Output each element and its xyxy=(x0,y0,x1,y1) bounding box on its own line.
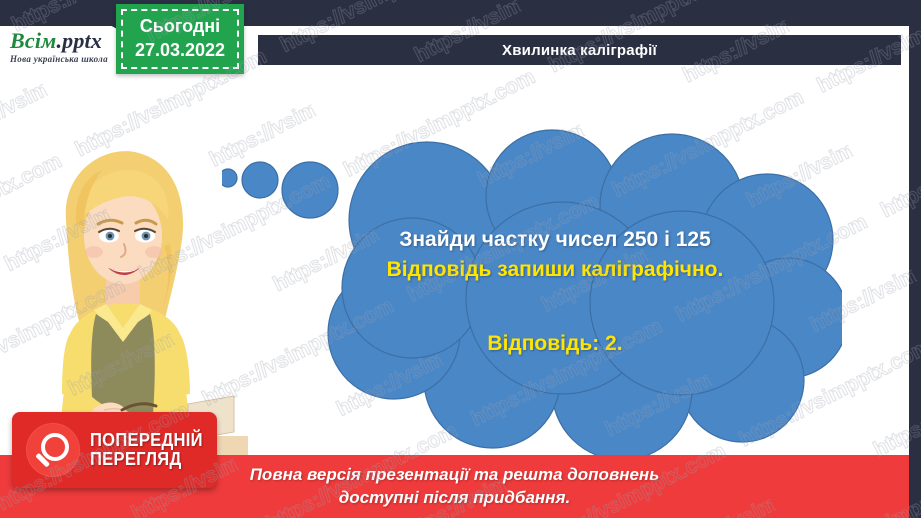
today-label: Сьогодні xyxy=(140,15,220,39)
teacher-illustration xyxy=(18,128,248,458)
purchase-notice-line-1: Повна версія презентації та решта доповн… xyxy=(250,464,660,487)
task-line-1: Знайди частку чисел 250 і 125 xyxy=(300,225,810,255)
text-spacer xyxy=(300,285,810,329)
preview-badge: ПОПЕРЕДНІЙ ПЕРЕГЛЯД xyxy=(12,412,217,488)
slide-title-text: Хвилинка каліграфії xyxy=(502,42,657,59)
preview-badge-line-2: ПЕРЕГЛЯД xyxy=(90,450,203,469)
today-date: 27.03.2022 xyxy=(135,39,225,63)
slide-canvas: Всім.pptx Нова українська школа Сьогодні… xyxy=(0,0,921,518)
purchase-notice-line-2: доступні після придбання. xyxy=(339,487,570,510)
right-navy-rail xyxy=(909,0,921,518)
site-logo: Всім.pptx Нова українська школа xyxy=(10,30,108,64)
bubble-text-block: Знайди частку чисел 250 і 125 Відповідь … xyxy=(300,225,810,358)
preview-badge-line-1: ПОПЕРЕДНІЙ xyxy=(90,431,203,450)
today-date-badge: Сьогодні 27.03.2022 xyxy=(116,4,244,74)
magnifier-lens xyxy=(41,433,69,461)
logo-name-ext: .pptx xyxy=(56,28,102,53)
magnifier-icon xyxy=(26,423,80,477)
logo-tagline: Нова українська школа xyxy=(10,54,108,64)
logo-name-main: Всім xyxy=(10,28,56,53)
slide-title-bar: Хвилинка каліграфії xyxy=(258,35,901,65)
answer-line: Відповідь: 2. xyxy=(300,329,810,359)
preview-badge-text: ПОПЕРЕДНІЙ ПЕРЕГЛЯД xyxy=(90,431,203,469)
task-line-2: Відповідь запиши каліграфічно. xyxy=(300,255,810,285)
logo-wordmark: Всім.pptx xyxy=(10,30,108,52)
